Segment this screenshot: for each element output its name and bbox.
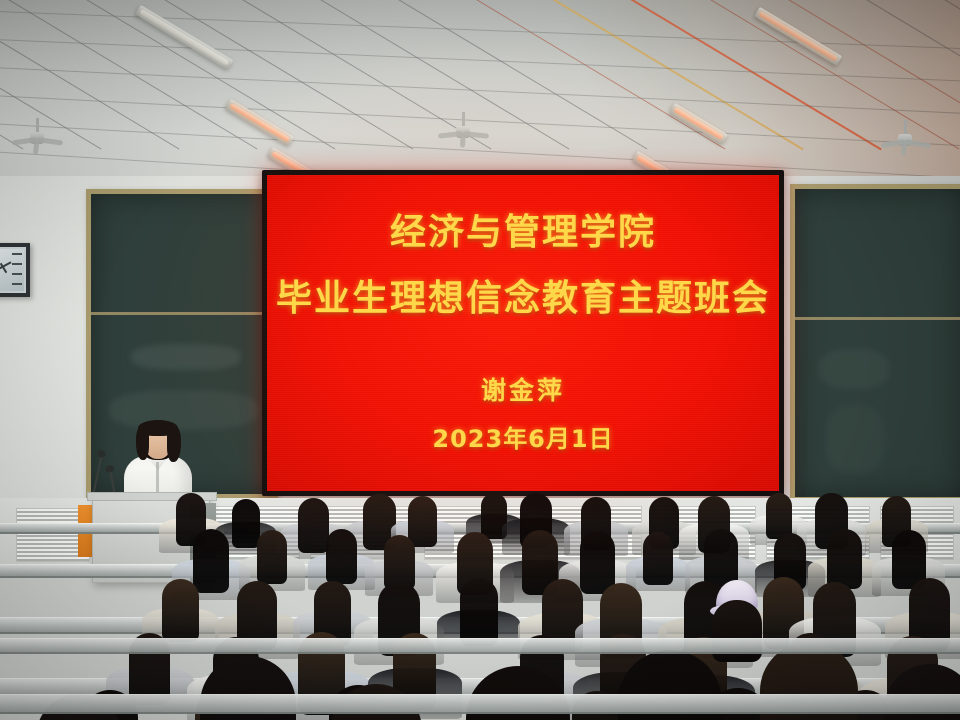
ceiling <box>0 0 960 190</box>
blackboard-right <box>790 184 960 502</box>
audience-area <box>0 488 960 720</box>
ceiling-fan <box>440 112 486 146</box>
bench-row <box>0 638 960 654</box>
ceiling-fan <box>882 120 928 154</box>
audience-member-head <box>643 532 673 584</box>
audience-member-head <box>326 529 357 584</box>
led-display-screen: 经济与管理学院 毕业生理想信念教育主题班会 谢金萍 2023年6月1日 <box>267 175 779 491</box>
slide-date: 2023年6月1日 <box>432 426 613 452</box>
audience-member-head <box>408 496 437 547</box>
classroom-photo: 经济与管理学院 毕业生理想信念教育主题班会 谢金萍 2023年6月1日 <box>0 0 960 720</box>
ceiling-warm-reflection <box>540 0 960 190</box>
audience-member-head <box>193 529 229 593</box>
ceiling-fan <box>14 118 60 152</box>
audience-member-head <box>827 529 861 589</box>
slide-presenter-name: 谢金萍 <box>481 377 565 405</box>
slide-title-line1: 经济与管理学院 <box>390 213 656 253</box>
bench-row <box>0 694 960 714</box>
audience-member-head <box>298 498 329 553</box>
audience-member-head <box>460 578 499 646</box>
audience-member-head <box>257 530 288 584</box>
led-display-bezel: 经济与管理学院 毕业生理想信念教育主题班会 谢金萍 2023年6月1日 <box>262 170 784 496</box>
audience-member-head <box>704 529 737 588</box>
slide-title-line2: 毕业生理想信念教育主题班会 <box>276 279 770 319</box>
audience-member-head <box>232 499 260 549</box>
wall-clock-icon <box>0 243 30 297</box>
audience-member-head <box>162 579 198 642</box>
audience-member-head <box>580 531 615 593</box>
